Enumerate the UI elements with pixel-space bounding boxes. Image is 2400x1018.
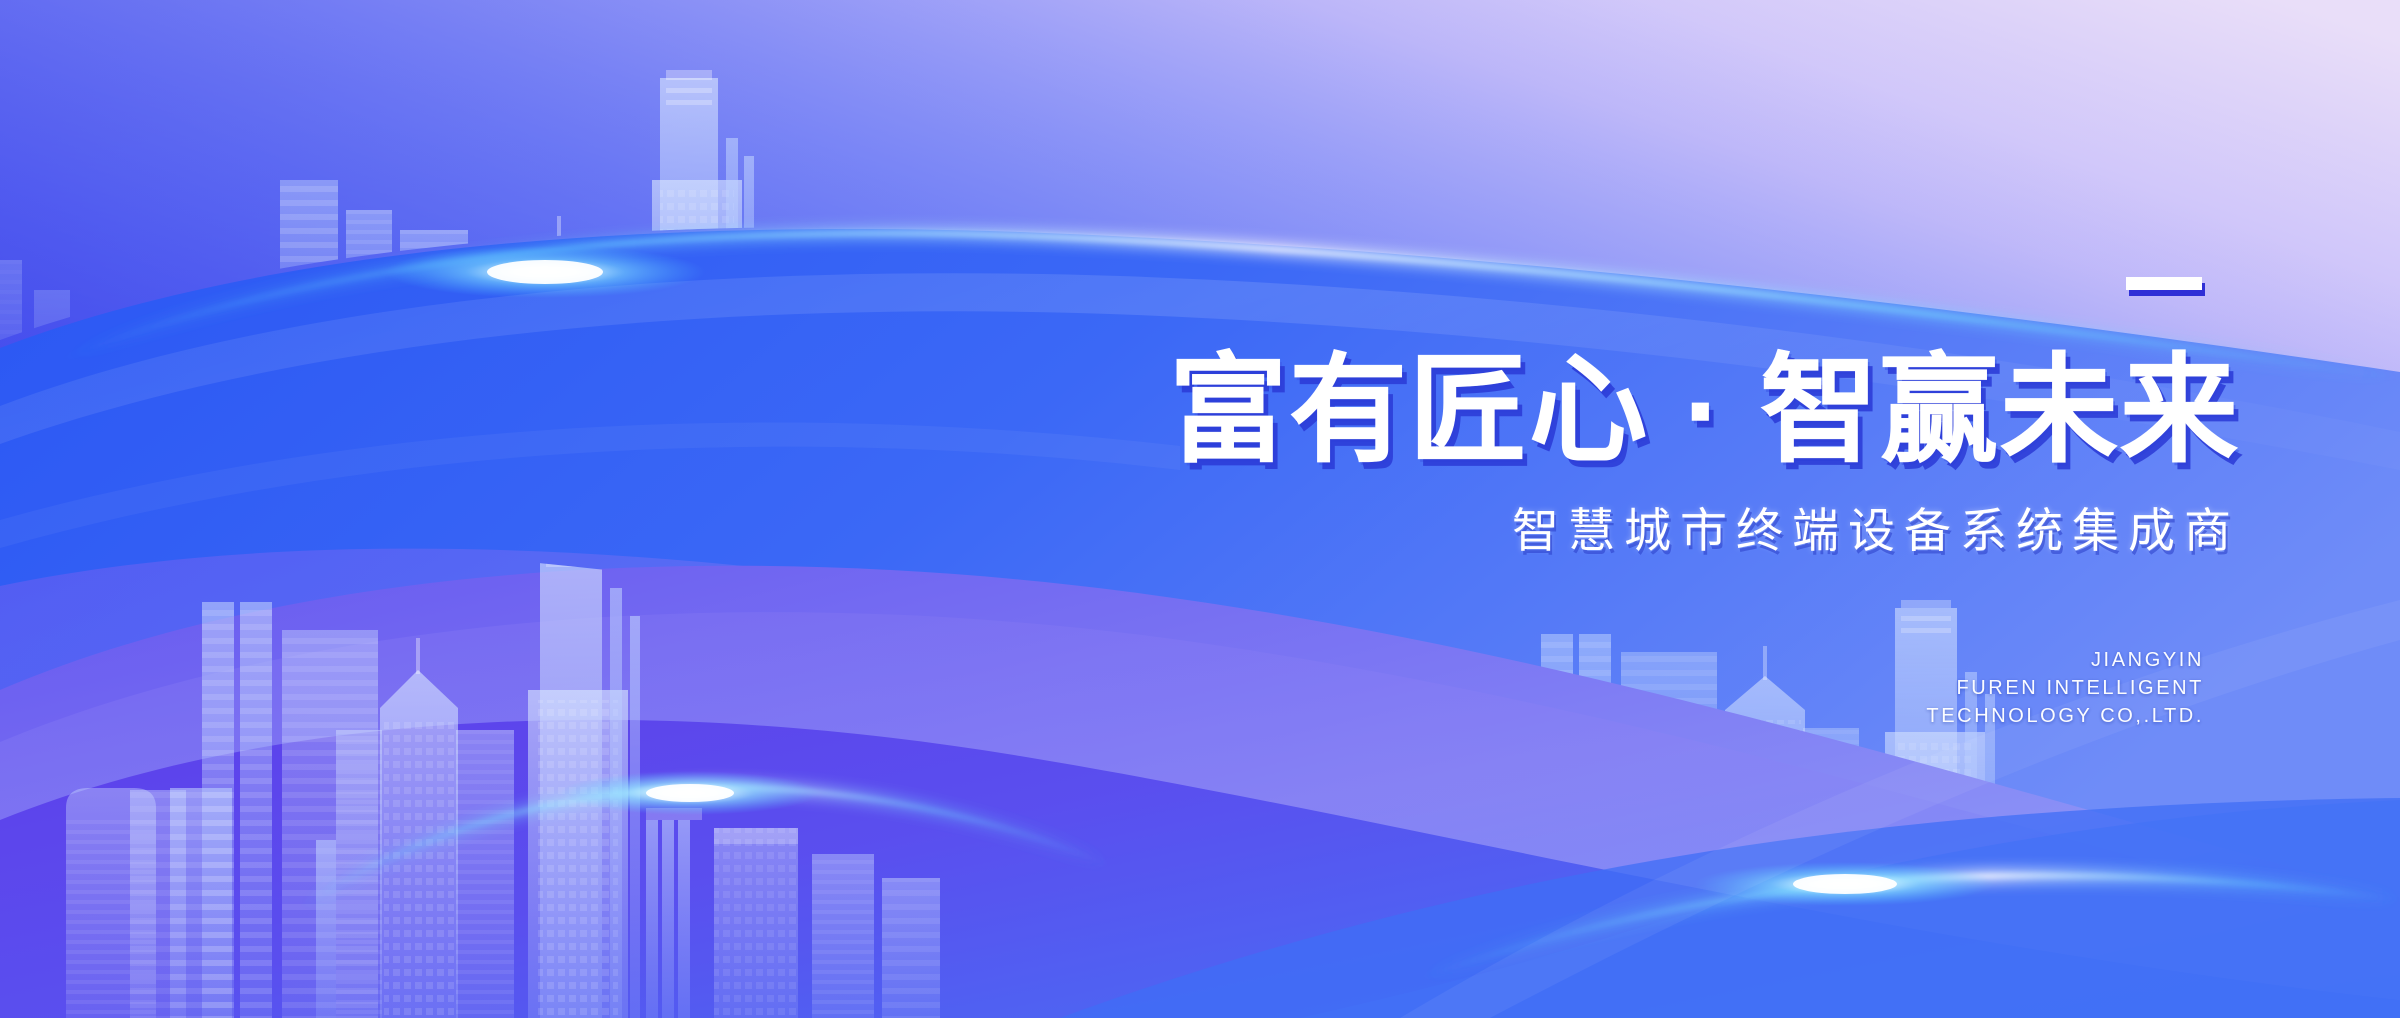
marketing-banner: 富有匠心 · 智赢未来 智慧城市终端设备系统集成商 JIANGYIN FUREN… (0, 0, 2400, 1018)
background-artwork (0, 0, 2400, 1018)
